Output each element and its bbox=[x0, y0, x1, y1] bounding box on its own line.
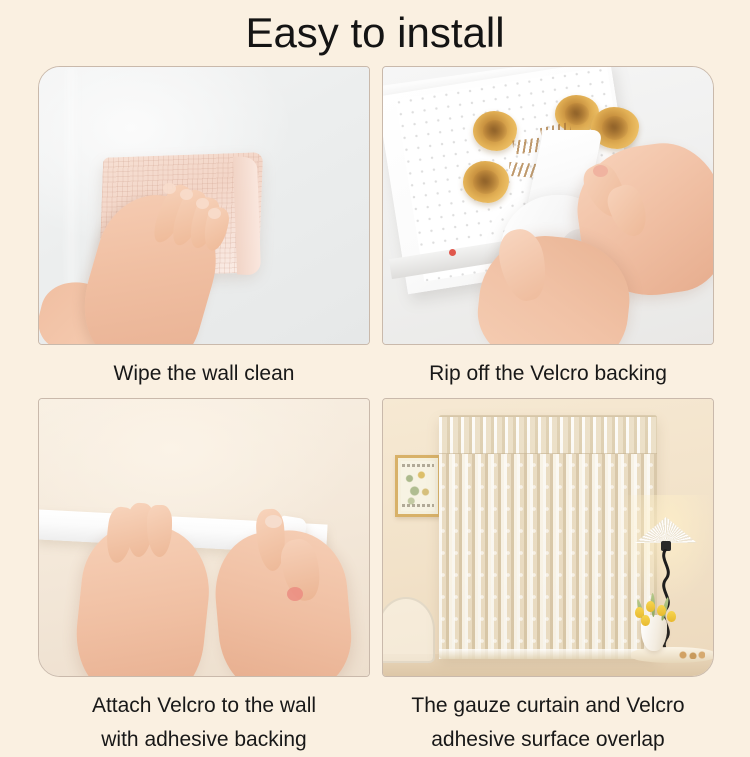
tulip-flower bbox=[667, 611, 676, 622]
steps-grid: Wipe the wall clean bbox=[38, 66, 714, 726]
step-2-photo bbox=[382, 66, 714, 345]
page-title: Easy to install bbox=[0, 9, 750, 57]
decor-nuts bbox=[679, 651, 705, 659]
dried-orange-slice bbox=[473, 111, 517, 151]
step-card-3: Attach Velcro to the wall with adhesive … bbox=[38, 398, 370, 757]
dried-orange-slice bbox=[463, 161, 509, 203]
tulip-flower bbox=[646, 601, 655, 612]
fingernail bbox=[593, 165, 608, 177]
step-4-caption-line-1: The gauze curtain and Velcro bbox=[411, 694, 684, 717]
step-3-caption-line-2: with adhesive backing bbox=[38, 723, 370, 757]
notebook-red-dot bbox=[449, 249, 456, 256]
step-1-caption-line-1: Wipe the wall clean bbox=[114, 362, 295, 385]
fingernail bbox=[208, 208, 221, 219]
curtain-hem bbox=[439, 649, 657, 659]
step-3-photo bbox=[38, 398, 370, 677]
palm-shadow bbox=[287, 587, 303, 601]
curtain-valance bbox=[439, 417, 657, 454]
step-1-caption: Wipe the wall clean bbox=[38, 345, 370, 391]
wall-art-top-text bbox=[402, 464, 434, 467]
step-card-4: The gauze curtain and Velcro adhesive su… bbox=[382, 398, 714, 757]
step-3-caption: Attach Velcro to the wall with adhesive … bbox=[38, 677, 370, 757]
step-card-1: Wipe the wall clean bbox=[38, 66, 370, 391]
fingernail bbox=[196, 198, 209, 209]
tulip-flower bbox=[657, 605, 666, 616]
tulip-flower bbox=[641, 615, 650, 626]
step-2-caption-line-1: Rip off the Velcro backing bbox=[429, 362, 667, 385]
chair-back bbox=[382, 597, 435, 663]
fingernail bbox=[180, 189, 193, 200]
step-4-photo bbox=[382, 398, 714, 677]
fingernail bbox=[265, 515, 282, 528]
step-3-caption-line-1: Attach Velcro to the wall bbox=[92, 694, 316, 717]
install-instructions-poster: Easy to install Wipe bbox=[0, 0, 750, 750]
step-2-caption: Rip off the Velcro backing bbox=[382, 345, 714, 391]
cloth-edge bbox=[233, 156, 261, 275]
step-4-caption: The gauze curtain and Velcro adhesive su… bbox=[382, 677, 714, 757]
step-card-2: Rip off the Velcro backing bbox=[382, 66, 714, 391]
step-4-caption-line-2: adhesive surface overlap bbox=[382, 723, 714, 757]
wall-art-frame bbox=[395, 455, 441, 517]
fingernail bbox=[163, 183, 176, 194]
step-1-photo bbox=[38, 66, 370, 345]
wall-art-bottom-text bbox=[402, 504, 434, 507]
